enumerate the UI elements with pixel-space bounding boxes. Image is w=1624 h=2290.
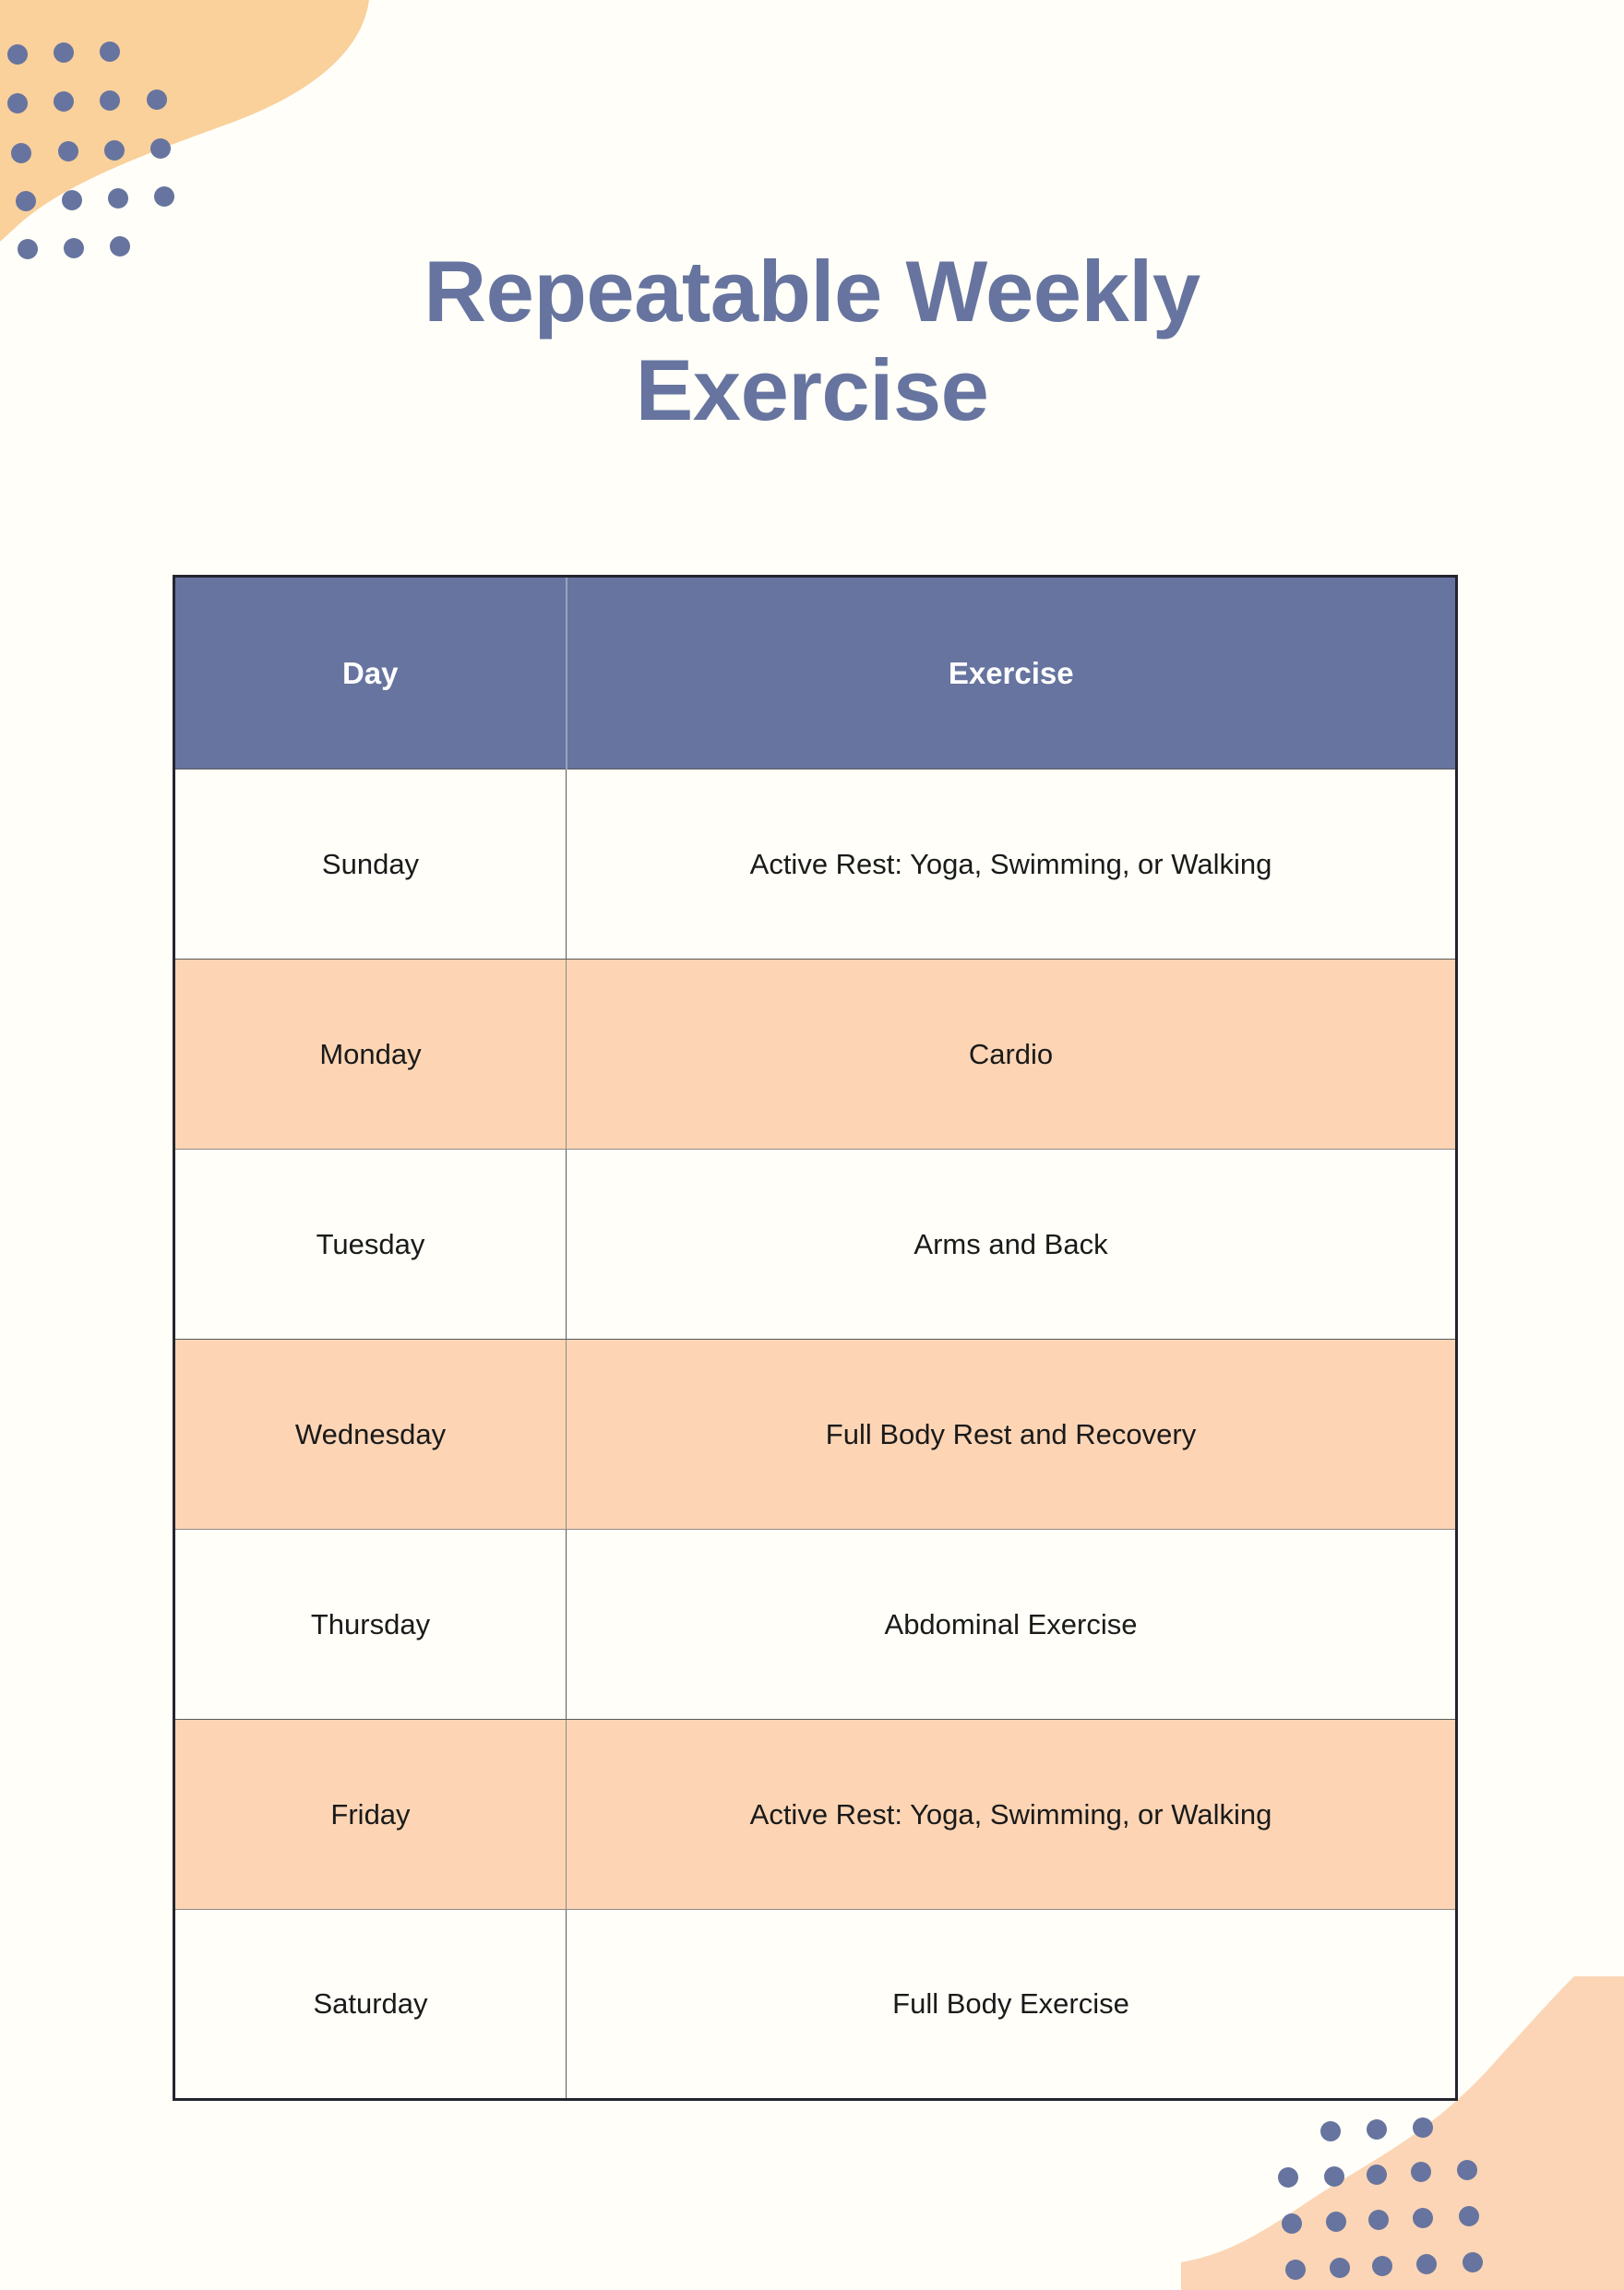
table-row: SundayActive Rest: Yoga, Swimming, or Wa… xyxy=(174,769,1457,960)
table-row: FridayActive Rest: Yoga, Swimming, or Wa… xyxy=(174,1720,1457,1910)
table-header-row: Day Exercise xyxy=(174,577,1457,769)
cell-day: Saturday xyxy=(174,1910,567,2100)
table-row: WednesdayFull Body Rest and Recovery xyxy=(174,1340,1457,1530)
cell-day: Wednesday xyxy=(174,1340,567,1530)
weekly-exercise-table: Day Exercise SundayActive Rest: Yoga, Sw… xyxy=(173,575,1458,2101)
cell-day: Tuesday xyxy=(174,1150,567,1340)
page-title-line-2: Exercise xyxy=(185,340,1439,439)
table-body: SundayActive Rest: Yoga, Swimming, or Wa… xyxy=(174,769,1457,2100)
table-row: SaturdayFull Body Exercise xyxy=(174,1910,1457,2100)
top-left-decoration xyxy=(0,0,388,277)
cell-exercise: Cardio xyxy=(567,960,1457,1150)
cell-exercise: Arms and Back xyxy=(567,1150,1457,1340)
table-row: TuesdayArms and Back xyxy=(174,1150,1457,1340)
cell-day: Monday xyxy=(174,960,567,1150)
page-title: Repeatable Weekly Exercise xyxy=(0,242,1624,439)
cell-day: Friday xyxy=(174,1720,567,1910)
column-header-day: Day xyxy=(174,577,567,769)
cell-exercise: Full Body Rest and Recovery xyxy=(567,1340,1457,1530)
table-row: ThursdayAbdominal Exercise xyxy=(174,1530,1457,1720)
cell-exercise: Active Rest: Yoga, Swimming, or Walking xyxy=(567,769,1457,960)
dot-grid xyxy=(1278,2117,1483,2280)
table-row: MondayCardio xyxy=(174,960,1457,1150)
cell-exercise: Active Rest: Yoga, Swimming, or Walking xyxy=(567,1720,1457,1910)
schedule-table-container: Day Exercise SundayActive Rest: Yoga, Sw… xyxy=(173,575,1455,2101)
column-header-exercise: Exercise xyxy=(567,577,1457,769)
dot-grid xyxy=(7,42,174,259)
table-header: Day Exercise xyxy=(174,577,1457,769)
peach-blob xyxy=(0,0,369,242)
page-title-line-1: Repeatable Weekly xyxy=(185,242,1439,340)
cell-exercise: Abdominal Exercise xyxy=(567,1530,1457,1720)
cell-exercise: Full Body Exercise xyxy=(567,1910,1457,2100)
cell-day: Sunday xyxy=(174,769,567,960)
cell-day: Thursday xyxy=(174,1530,567,1720)
